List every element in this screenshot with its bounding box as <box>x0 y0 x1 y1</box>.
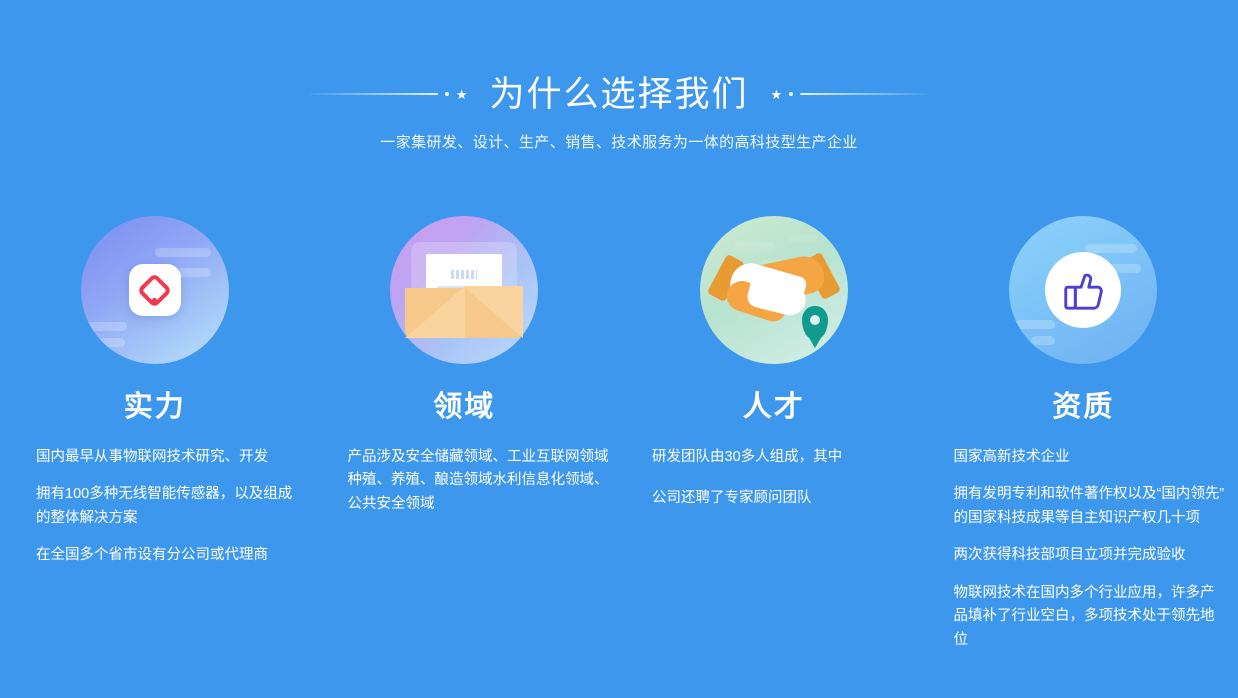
star-icon: ★ <box>771 88 783 101</box>
page-title: 为什么选择我们 <box>489 77 748 112</box>
feature-column-qualification: 资质 国家高新技术企业 拥有发明专利和软件著作权以及“国内领先”的国家科技成果等… <box>929 205 1238 652</box>
title-row: ★ 为什么选择我们 ★ <box>0 68 1238 120</box>
body-paragraph: 两次获得科技部项目立项并完成验收 <box>954 544 1229 567</box>
feature-columns: 实力 国内最早从事物联网技术研究、开发 拥有100多种无线智能传感器，以及组成的… <box>0 205 1238 652</box>
feature-column-talent: 人才 研发团队由30多人组成，其中 公司还聘了专家顾问团队 <box>619 205 929 652</box>
envelope-flap-right <box>463 286 523 338</box>
thumbs-up-glyph <box>1060 267 1106 313</box>
why-choose-us-section: ★ 为什么选择我们 ★ 一家集研发、设计、生产、销售、技术服务为一体的高科技型生… <box>0 0 1238 698</box>
body-paragraph: 物联网技术在国内多个行业应用，许多产品填补了行业空白，多项技术处于领先地位 <box>954 582 1229 652</box>
page-subtitle: 一家集研发、设计、生产、销售、技术服务为一体的高科技型生产企业 <box>0 131 1238 152</box>
title-decoration-right: ★ <box>771 84 929 104</box>
decoration-line-icon <box>310 93 438 95</box>
column-body: 国家高新技术企业 拥有发明专利和软件著作权以及“国内领先”的国家科技成果等自主知… <box>929 446 1238 652</box>
feature-icon-wrap <box>70 205 240 375</box>
body-paragraph: 拥有发明专利和软件著作权以及“国内领先”的国家科技成果等自主知识产权几十项 <box>954 483 1229 530</box>
decoration-line-icon <box>800 93 928 95</box>
body-paragraph: 研发团队由30多人组成，其中 <box>652 446 915 469</box>
feature-icon-wrap <box>998 205 1168 375</box>
column-title: 人才 <box>743 393 805 422</box>
star-icon: ★ <box>456 88 468 101</box>
handshake-location-icon <box>714 242 834 338</box>
letter-seal-icon <box>451 270 477 279</box>
envelope <box>405 242 523 338</box>
feature-icon-wrap <box>379 205 549 375</box>
decoration-dot-icon <box>789 92 793 96</box>
white-disc <box>1045 252 1121 328</box>
column-body: 产品涉及安全储藏领域、工业互联网领域种殖、养殖、酿造领域水利信息化领域、公共安全… <box>310 446 620 516</box>
body-paragraph: 公司还聘了专家顾问团队 <box>652 487 915 510</box>
column-body: 研发团队由30多人组成，其中 公司还聘了专家顾问团队 <box>619 446 929 529</box>
red-diamond-tag-icon <box>129 264 181 316</box>
location-pin-icon <box>802 306 828 340</box>
thumbs-up-icon <box>1045 252 1121 328</box>
diamond-outline-icon <box>137 272 172 307</box>
light-streak <box>177 268 211 277</box>
light-streak <box>99 338 125 347</box>
column-title: 领域 <box>433 393 495 422</box>
feature-column-domain: 领域 产品涉及安全储藏领域、工业互联网领域种殖、养殖、酿造领域水利信息化领域、公… <box>310 205 620 652</box>
decoration-dot-icon <box>445 92 449 96</box>
body-paragraph: 在全国多个省市设有分公司或代理商 <box>36 544 296 567</box>
column-title: 资质 <box>1052 393 1114 422</box>
column-title: 实力 <box>124 393 186 422</box>
envelope-flap-left <box>405 286 465 338</box>
envelope-certificate-icon <box>405 242 523 338</box>
feature-column-strength: 实力 国内最早从事物联网技术研究、开发 拥有100多种无线智能传感器，以及组成的… <box>0 205 310 652</box>
body-paragraph: 产品涉及安全储藏领域、工业互联网领域种殖、养殖、酿造领域水利信息化领域、公共安全… <box>348 446 614 516</box>
light-streak <box>155 248 211 257</box>
light-streak <box>1031 336 1055 345</box>
light-streak <box>83 322 127 331</box>
body-paragraph: 国家高新技术企业 <box>954 446 1229 469</box>
feature-icon-wrap <box>689 205 859 375</box>
handshake <box>714 242 834 338</box>
body-paragraph: 拥有100多种无线智能传感器，以及组成的整体解决方案 <box>36 483 296 530</box>
body-paragraph: 国内最早从事物联网技术研究、开发 <box>36 446 296 469</box>
title-decoration-left: ★ <box>310 84 468 104</box>
white-tile <box>129 264 181 316</box>
column-body: 国内最早从事物联网技术研究、开发 拥有100多种无线智能传感器，以及组成的整体解… <box>0 446 310 568</box>
